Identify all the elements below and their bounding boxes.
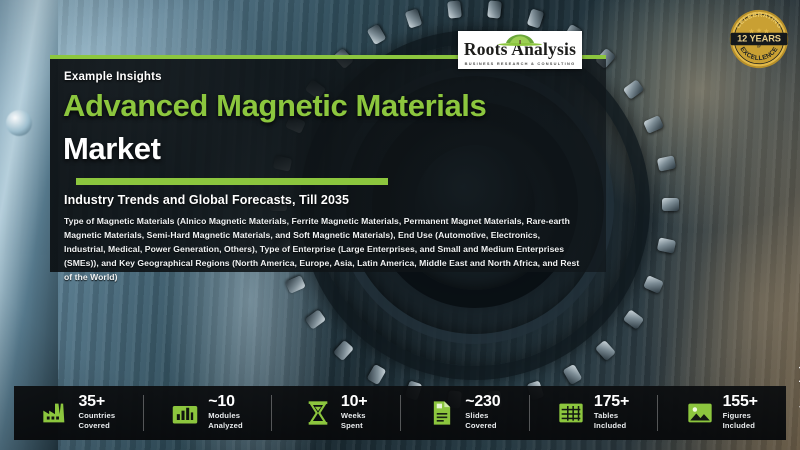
slides-icon <box>428 399 456 427</box>
badge-center-text: 12 YEARS <box>737 34 781 44</box>
eyebrow-label: Example Insights <box>64 71 162 83</box>
bar-chart-icon <box>171 399 199 427</box>
stat-value: 10+ <box>341 394 368 411</box>
stat-text-block: ~10ModulesAnalyzed <box>208 394 243 431</box>
stat-label-line2: Included <box>594 421 629 431</box>
stat-label-line2: Spent <box>341 421 368 431</box>
stat-value: 175+ <box>594 394 629 411</box>
title-underline-rule <box>76 178 388 185</box>
logo-tagline: BUSINESS RESEARCH & CONSULTING <box>465 61 576 66</box>
stat-text-block: 35+CountriesCovered <box>78 394 115 431</box>
stats-bar: 35+CountriesCovered~10ModulesAnalyzed10+… <box>14 386 786 440</box>
hourglass-icon <box>304 399 332 427</box>
stat-text-block: 155+FiguresIncluded <box>723 394 758 431</box>
stat-value: ~230 <box>465 394 500 411</box>
stat-label-line1: Modules <box>208 411 243 421</box>
stat-label-line2: Included <box>723 421 758 431</box>
report-scope-description: Type of Magnetic Materials (Alnico Magne… <box>64 215 584 285</box>
page-title-line1: Advanced Magnetic Materials <box>63 90 486 121</box>
stat-text-block: 10+WeeksSpent <box>341 394 368 431</box>
stat-label-line1: Figures <box>723 411 758 421</box>
stat-label-line2: Analyzed <box>208 421 243 431</box>
hero-panel: Example Insights Advanced Magnetic Mater… <box>50 55 606 272</box>
report-subtitle: Industry Trends and Global Forecasts, Ti… <box>64 193 349 207</box>
image-icon <box>686 399 714 427</box>
stat-text-block: ~230SlidesCovered <box>465 394 500 431</box>
stat-item-modules: ~10ModulesAnalyzed <box>143 386 272 440</box>
stat-item-figures: 155+FiguresIncluded <box>657 386 786 440</box>
stat-text-block: 175+TablesIncluded <box>594 394 629 431</box>
stat-label-line1: Weeks <box>341 411 368 421</box>
stat-item-weeks: 10+WeeksSpent <box>271 386 400 440</box>
stat-value: ~10 <box>208 394 243 411</box>
anniversary-badge-icon: CELEBRATING EXCELLENCE 12 YEARS OF <box>728 8 790 70</box>
stat-value: 35+ <box>78 394 115 411</box>
stat-item-countries: 35+CountriesCovered <box>14 386 143 440</box>
stat-item-slides: ~230SlidesCovered <box>400 386 529 440</box>
stat-label-line2: Covered <box>78 421 115 431</box>
tree-icon <box>497 33 543 46</box>
factory-icon <box>41 399 69 427</box>
stat-label-line1: Tables <box>594 411 629 421</box>
stat-label-line1: Slides <box>465 411 500 421</box>
stat-label-line1: Countries <box>78 411 115 421</box>
stat-item-tables: 175+TablesIncluded <box>529 386 658 440</box>
page-title-line2: Market <box>63 133 161 164</box>
slide-canvas: Example Insights Advanced Magnetic Mater… <box>0 0 800 450</box>
roots-analysis-logo[interactable]: Roots Analysis BUSINESS RESEARCH & CONSU… <box>458 31 582 69</box>
stat-label-line2: Covered <box>465 421 500 431</box>
stat-value: 155+ <box>723 394 758 411</box>
table-icon <box>557 399 585 427</box>
badge-middle-small: OF <box>757 45 761 49</box>
